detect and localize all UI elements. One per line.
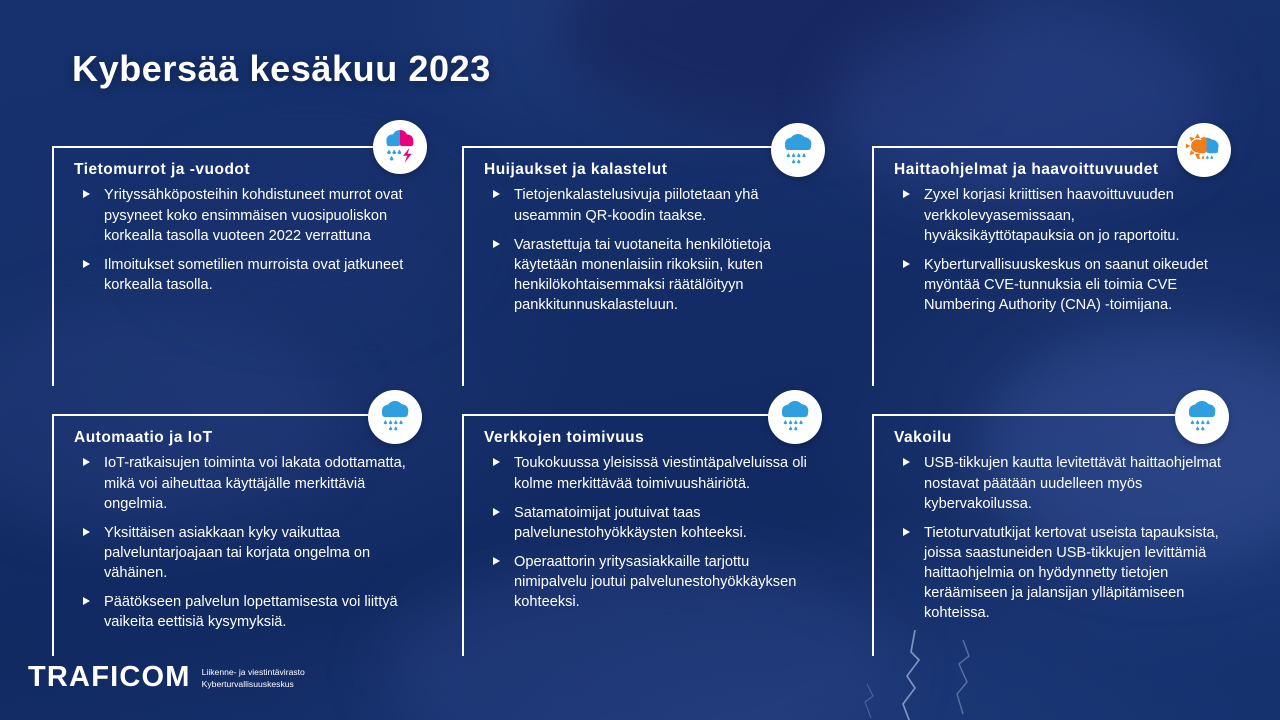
bullet-text: Operaattorin yritysasiakkaille tarjottu … [514, 554, 796, 610]
card-left-rule [872, 146, 876, 386]
sun-cloud-rain-icon [1177, 123, 1231, 177]
list-item: Ilmoitukset sometilien murroista ovat ja… [74, 255, 412, 295]
triangle-bullet-icon [493, 557, 500, 565]
bullet-text: Tietoturvatutkijat kertovat useista tapa… [924, 525, 1219, 622]
list-item: Zyxel korjasi kriittisen haavoittuvuuden… [894, 185, 1228, 245]
cloud-rain-icon [1175, 390, 1229, 444]
triangle-bullet-icon [83, 190, 90, 198]
card-bullet-list: Tietojenkalastelusivuja piilotetaan yhä … [484, 185, 822, 315]
bullet-text: Yrityssähköposteihin kohdistuneet murrot… [104, 187, 403, 243]
card-top-rule [462, 146, 772, 148]
card-bullet-list: IoT-ratkaisujen toiminta voi lakata odot… [74, 453, 412, 632]
card-title: Huijaukset ja kalastelut [484, 160, 822, 179]
triangle-bullet-icon [903, 190, 910, 198]
list-item: Operaattorin yritysasiakkaille tarjottu … [484, 552, 822, 612]
bullet-text: Varastettuja tai vuotaneita henkilötieto… [514, 237, 771, 313]
triangle-bullet-icon [493, 190, 500, 198]
bullet-text: Toukokuussa yleisissä viestintäpalveluis… [514, 455, 807, 491]
bullet-text: Zyxel korjasi kriittisen haavoittuvuuden… [924, 187, 1180, 243]
list-item: Tietojenkalastelusivuja piilotetaan yhä … [484, 185, 822, 225]
card-bullet-list: Zyxel korjasi kriittisen haavoittuvuuden… [894, 185, 1228, 315]
list-item: Satamatoimijat joutuivat taas palvelunes… [484, 503, 822, 543]
bullet-text: Ilmoitukset sometilien murroista ovat ja… [104, 257, 403, 293]
card-title: Haittaohjelmat ja haavoittuvuudet [894, 160, 1228, 179]
triangle-bullet-icon [903, 260, 910, 268]
triangle-bullet-icon [493, 458, 500, 466]
card-haittaohjelmat: Haittaohjelmat ja haavoittuvuudet Zyxel … [872, 146, 1228, 386]
bullet-text: Päätökseen palvelun lopettamisesta voi l… [104, 594, 398, 630]
card-top-rule [52, 146, 377, 148]
bullet-text: Tietojenkalastelusivuja piilotetaan yhä … [514, 187, 758, 223]
cloud-rain-icon [771, 123, 825, 177]
triangle-bullet-icon [493, 508, 500, 516]
page-title: Kybersää kesäkuu 2023 [72, 48, 491, 90]
card-automaatio: Automaatio ja IoT IoT-ratkaisujen toimin… [52, 414, 412, 656]
traficom-subtitle-line1: Liikenne- ja viestintävirasto [202, 667, 305, 678]
card-vakoilu: Vakoilu USB-tikkujen kautta levitettävät… [872, 414, 1228, 656]
card-huijaukset: Huijaukset ja kalastelut Tietojenkalaste… [462, 146, 822, 386]
list-item: Varastettuja tai vuotaneita henkilötieto… [484, 235, 822, 316]
traficom-subtitle-line2: Kyberturvallisuuskeskus [202, 679, 305, 690]
card-left-rule [52, 146, 56, 386]
card-title: Tietomurrot ja -vuodot [74, 160, 412, 179]
card-left-rule [462, 414, 466, 656]
bullet-text: USB-tikkujen kautta levitettävät haittao… [924, 455, 1221, 511]
card-verkkojen-toimivuus: Verkkojen toimivuus Toukokuussa yleisiss… [462, 414, 822, 656]
card-top-rule [872, 146, 1177, 148]
list-item: Yrityssähköposteihin kohdistuneet murrot… [74, 185, 412, 245]
list-item: Yksittäisen asiakkaan kyky vaikuttaa pal… [74, 523, 412, 583]
bullet-text: Yksittäisen asiakkaan kyky vaikuttaa pal… [104, 525, 370, 581]
triangle-bullet-icon [83, 260, 90, 268]
triangle-bullet-icon [903, 528, 910, 536]
bullet-text: IoT-ratkaisujen toiminta voi lakata odot… [104, 455, 406, 511]
cloud-rain-icon [768, 390, 822, 444]
card-top-rule [52, 414, 370, 416]
list-item: Kyberturvallisuuskeskus on saanut oikeud… [894, 255, 1228, 315]
card-bullet-list: Yrityssähköposteihin kohdistuneet murrot… [74, 185, 412, 295]
list-item: Päätökseen palvelun lopettamisesta voi l… [74, 592, 412, 632]
card-title: Automaatio ja IoT [74, 428, 412, 447]
triangle-bullet-icon [83, 458, 90, 466]
card-left-rule [872, 414, 876, 656]
cloud-rain-lightning-icon [373, 120, 427, 174]
card-top-rule [462, 414, 770, 416]
list-item: Tietoturvatutkijat kertovat useista tapa… [894, 523, 1228, 624]
triangle-bullet-icon [83, 597, 90, 605]
card-left-rule [462, 146, 466, 386]
card-bullet-list: Toukokuussa yleisissä viestintäpalveluis… [484, 453, 822, 612]
cloud-rain-icon [368, 390, 422, 444]
list-item: IoT-ratkaisujen toiminta voi lakata odot… [74, 453, 412, 513]
card-tietomurrot: Tietomurrot ja -vuodot Yrityssähköpostei… [52, 146, 412, 386]
traficom-logo: TRAFICOM Liikenne- ja viestintävirasto K… [28, 663, 305, 692]
list-item: Toukokuussa yleisissä viestintäpalveluis… [484, 453, 822, 493]
traficom-wordmark: TRAFICOM [28, 663, 191, 692]
bullet-text: Kyberturvallisuuskeskus on saanut oikeud… [924, 257, 1208, 313]
triangle-bullet-icon [493, 240, 500, 248]
triangle-bullet-icon [83, 528, 90, 536]
background-cloud [560, 0, 990, 130]
list-item: USB-tikkujen kautta levitettävät haittao… [894, 453, 1228, 513]
card-top-rule [872, 414, 1175, 416]
slide-canvas: Kybersää kesäkuu 2023 Tietomurrot ja -vu… [0, 0, 1280, 720]
card-bullet-list: USB-tikkujen kautta levitettävät haittao… [894, 453, 1228, 623]
card-left-rule [52, 414, 56, 656]
triangle-bullet-icon [903, 458, 910, 466]
traficom-subtitle: Liikenne- ja viestintävirasto Kyberturva… [202, 667, 305, 692]
bullet-text: Satamatoimijat joutuivat taas palvelunes… [514, 505, 747, 541]
